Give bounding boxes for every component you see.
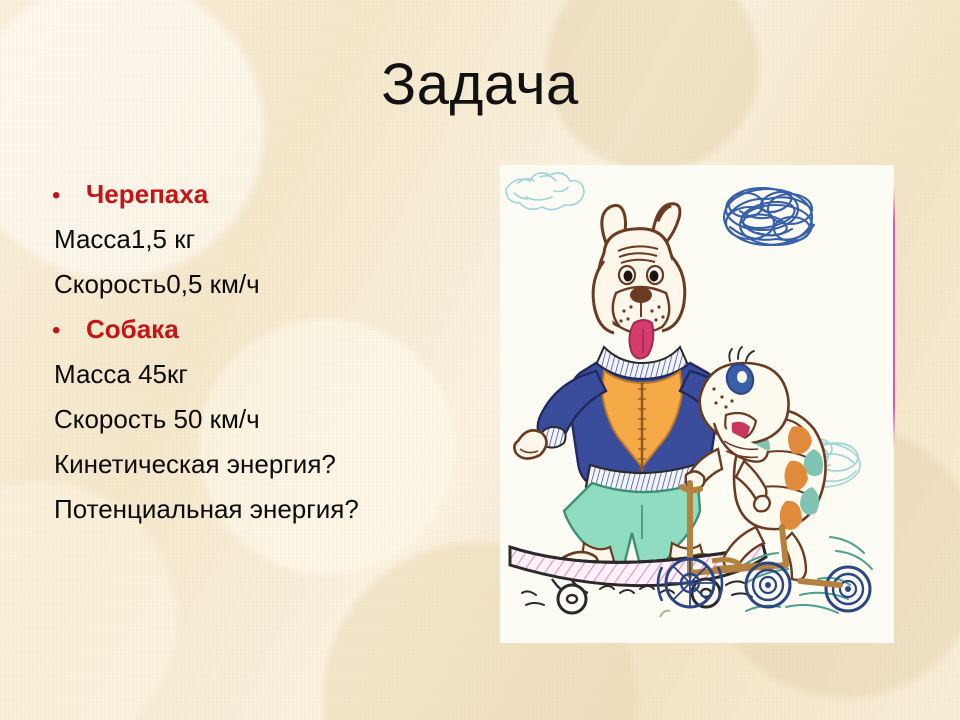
list-item: Потенциальная энергия? bbox=[52, 487, 482, 532]
list-item-label: Черепаха bbox=[86, 179, 208, 209]
page-title: Задача bbox=[0, 52, 960, 118]
list-item: Масса 45кг bbox=[52, 352, 482, 397]
slide-canvas: Задача •Черепаха Масса1,5 кг Скорость0,5… bbox=[0, 0, 960, 720]
bullet-icon: • bbox=[52, 308, 86, 353]
list-item: Кинетическая энергия? bbox=[52, 442, 482, 487]
trike-rear-wheel-left bbox=[746, 563, 790, 607]
list-item-label: Собака bbox=[86, 314, 179, 344]
list-item: Скорость 50 км/ч bbox=[52, 397, 482, 442]
list-item: Масса1,5 кг bbox=[52, 217, 482, 262]
bullet-icon: • bbox=[52, 173, 86, 218]
list-item: Скорость0,5 км/ч bbox=[52, 262, 482, 307]
list-item: •Собака bbox=[52, 307, 482, 352]
trike-rear-wheel-right bbox=[826, 567, 870, 611]
problem-data-list: •Черепаха Масса1,5 кг Скорость0,5 км/ч •… bbox=[52, 172, 482, 532]
list-item: •Черепаха bbox=[52, 172, 482, 217]
illustration-image bbox=[500, 165, 894, 643]
photo-edge-pink-line bbox=[893, 186, 895, 448]
